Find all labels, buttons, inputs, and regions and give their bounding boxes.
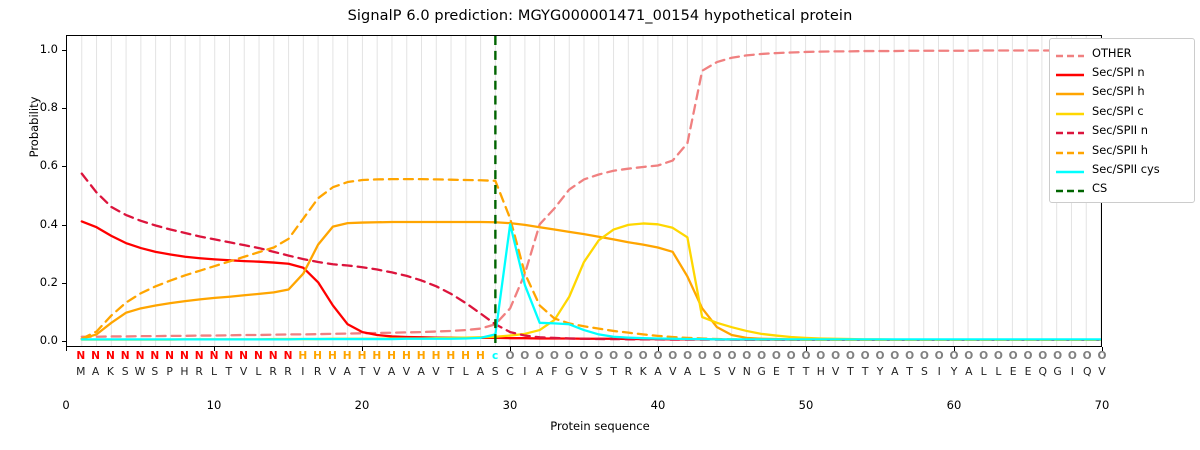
sequence-residue: V	[237, 364, 251, 379]
sequence-residue: K	[103, 364, 117, 379]
sequence-residue: M	[74, 364, 88, 379]
sequence-residue: H	[814, 364, 828, 379]
sequence-region-marker: O	[518, 349, 532, 364]
sequence-residue: S	[592, 364, 606, 379]
sequence-residue: T	[444, 364, 458, 379]
sequence-region-marker: H	[311, 349, 325, 364]
sequence-residue: A	[340, 364, 354, 379]
sequence-residue: A	[533, 364, 547, 379]
sequence-residue: T	[355, 364, 369, 379]
sequence-region-marker: N	[133, 349, 147, 364]
sequence-residue: K	[636, 364, 650, 379]
y-tick-label: 0.2	[8, 275, 58, 289]
legend-swatch-icon	[1055, 182, 1085, 194]
sequence-region-marker: H	[429, 349, 443, 364]
sequence-residue: L	[459, 364, 473, 379]
sequence-residue: Q	[1080, 364, 1094, 379]
sequence-region-marker: O	[888, 349, 902, 364]
sequence-region-marker: H	[370, 349, 384, 364]
x-tick-label: 50	[786, 398, 826, 412]
sequence-region-marker: H	[414, 349, 428, 364]
sequence-residue: G	[1051, 364, 1065, 379]
sequence-residue: V	[325, 364, 339, 379]
sequence-region-marker: O	[607, 349, 621, 364]
sequence-region-marker: O	[547, 349, 561, 364]
sequence-residue: A	[385, 364, 399, 379]
sequence-region-marker: H	[296, 349, 310, 364]
signalp-prediction-figure: SignalP 6.0 prediction: MGYG000001471_00…	[0, 0, 1200, 450]
sequence-region-marker: H	[355, 349, 369, 364]
sequence-region-marker: O	[784, 349, 798, 364]
legend-item[interactable]: OTHER	[1055, 43, 1189, 62]
sequence-region-marker: O	[740, 349, 754, 364]
sequence-region-marker: N	[74, 349, 88, 364]
sequence-region-marker: O	[991, 349, 1005, 364]
sequence-region-marker: O	[666, 349, 680, 364]
x-tick-label: 70	[1082, 398, 1122, 412]
legend-label: Sec/SPI h	[1092, 84, 1145, 98]
sequence-region-marker: O	[1006, 349, 1020, 364]
sequence-residue: R	[621, 364, 635, 379]
sequence-residue: E	[1021, 364, 1035, 379]
sequence-region-marker: O	[503, 349, 517, 364]
protein-sequence-track: NMNANKNSNWNSNPNHNRNLNTNVNLNRNRHIHRHVHAHT…	[66, 349, 1102, 385]
sequence-region-marker: O	[829, 349, 843, 364]
sequence-region-marker: H	[340, 349, 354, 364]
sequence-region-marker: O	[533, 349, 547, 364]
sequence-region-marker: O	[562, 349, 576, 364]
sequence-region-marker: H	[459, 349, 473, 364]
sequence-residue: I	[518, 364, 532, 379]
sequence-residue: L	[991, 364, 1005, 379]
sequence-residue: A	[962, 364, 976, 379]
sequence-region-marker: O	[903, 349, 917, 364]
sequence-region-marker: O	[651, 349, 665, 364]
x-tick-label: 20	[342, 398, 382, 412]
sequence-residue: I	[296, 364, 310, 379]
sequence-residue: A	[89, 364, 103, 379]
y-tick-label: 1.0	[8, 42, 58, 56]
legend-item[interactable]: Sec/SPII n	[1055, 121, 1189, 140]
sequence-residue: N	[740, 364, 754, 379]
legend-item[interactable]: Sec/SPII cys	[1055, 159, 1189, 178]
sequence-region-marker: N	[163, 349, 177, 364]
sequence-region-marker: N	[192, 349, 206, 364]
sequence-region-marker: O	[843, 349, 857, 364]
legend-label: Sec/SPI n	[1092, 65, 1145, 79]
sequence-region-marker: O	[592, 349, 606, 364]
sequence-region-marker: O	[725, 349, 739, 364]
legend-label: Sec/SPII n	[1092, 123, 1148, 137]
sequence-region-marker: N	[207, 349, 221, 364]
sequence-region-marker: O	[962, 349, 976, 364]
y-tick-label: 0.8	[8, 100, 58, 114]
sequence-region-marker: O	[681, 349, 695, 364]
sequence-residue: F	[547, 364, 561, 379]
sequence-residue: V	[370, 364, 384, 379]
sequence-region-marker: H	[325, 349, 339, 364]
y-tick-label: 0.0	[8, 333, 58, 347]
sequence-region-marker: O	[873, 349, 887, 364]
sequence-residue: H	[177, 364, 191, 379]
sequence-residue: G	[755, 364, 769, 379]
sequence-residue: T	[222, 364, 236, 379]
sequence-residue: S	[148, 364, 162, 379]
sequence-residue: T	[799, 364, 813, 379]
sequence-region-marker: O	[947, 349, 961, 364]
sequence-residue: V	[829, 364, 843, 379]
plot-area	[66, 35, 1102, 347]
sequence-residue: A	[414, 364, 428, 379]
sequence-residue: Q	[1036, 364, 1050, 379]
sequence-region-marker: O	[695, 349, 709, 364]
legend-swatch-icon	[1055, 85, 1085, 97]
x-tick-label: 10	[194, 398, 234, 412]
sequence-residue: R	[266, 364, 280, 379]
sequence-region-marker: O	[1080, 349, 1094, 364]
sequence-region-marker: H	[444, 349, 458, 364]
sequence-region-marker: H	[385, 349, 399, 364]
sequence-region-marker: N	[103, 349, 117, 364]
legend-item[interactable]: Sec/SPII h	[1055, 140, 1189, 159]
legend-item[interactable]: Sec/SPI h	[1055, 82, 1189, 101]
legend-swatch-icon	[1055, 124, 1085, 136]
legend-item[interactable]: Sec/SPI n	[1055, 62, 1189, 81]
legend-swatch-icon	[1055, 66, 1085, 78]
legend-item[interactable]: CS	[1055, 179, 1189, 198]
sequence-residue: L	[977, 364, 991, 379]
legend-label: OTHER	[1092, 46, 1132, 60]
sequence-region-marker: O	[977, 349, 991, 364]
sequence-region-marker: O	[799, 349, 813, 364]
legend-swatch-icon	[1055, 47, 1085, 59]
sequence-residue: T	[784, 364, 798, 379]
sequence-residue: A	[681, 364, 695, 379]
sequence-residue: R	[311, 364, 325, 379]
sequence-region-marker: O	[636, 349, 650, 364]
sequence-residue: E	[1006, 364, 1020, 379]
y-axis-label: Probability	[27, 47, 41, 207]
x-tick-label: 30	[490, 398, 530, 412]
sequence-residue: T	[607, 364, 621, 379]
sequence-residue: V	[399, 364, 413, 379]
sequence-region-marker: O	[1021, 349, 1035, 364]
sequence-residue: L	[695, 364, 709, 379]
sequence-residue: R	[192, 364, 206, 379]
y-tick-label: 0.6	[8, 158, 58, 172]
sequence-region-marker: N	[222, 349, 236, 364]
sequence-region-marker: O	[621, 349, 635, 364]
sequence-residue: I	[932, 364, 946, 379]
legend-swatch-icon	[1055, 163, 1085, 175]
sequence-residue: V	[577, 364, 591, 379]
sequence-residue: S	[710, 364, 724, 379]
legend-label: Sec/SPI c	[1092, 104, 1144, 118]
legend-swatch-icon	[1055, 144, 1085, 156]
sequence-residue: P	[163, 364, 177, 379]
sequence-region-marker: N	[237, 349, 251, 364]
sequence-residue: C	[503, 364, 517, 379]
x-tick-label: 40	[638, 398, 678, 412]
sequence-region-marker: H	[473, 349, 487, 364]
legend-item[interactable]: Sec/SPI c	[1055, 101, 1189, 120]
sequence-residue: W	[133, 364, 147, 379]
sequence-residue: T	[843, 364, 857, 379]
sequence-residue: L	[207, 364, 221, 379]
sequence-residue: L	[251, 364, 265, 379]
sequence-region-marker: N	[251, 349, 265, 364]
sequence-residue: T	[858, 364, 872, 379]
legend-label: Sec/SPII cys	[1092, 162, 1160, 176]
page-title: SignalP 6.0 prediction: MGYG000001471_00…	[0, 8, 1200, 24]
sequence-residue: R	[281, 364, 295, 379]
sequence-residue: A	[473, 364, 487, 379]
sequence-residue: V	[725, 364, 739, 379]
sequence-residue: T	[903, 364, 917, 379]
legend-label: CS	[1092, 181, 1107, 195]
sequence-region-marker: O	[769, 349, 783, 364]
x-axis-label: Protein sequence	[0, 419, 1200, 433]
legend-label: Sec/SPII h	[1092, 143, 1148, 157]
sequence-residue: S	[118, 364, 132, 379]
legend-swatch-icon	[1055, 105, 1085, 117]
sequence-region-marker: N	[281, 349, 295, 364]
cleavage-site-line	[67, 36, 1101, 346]
sequence-region-marker: N	[89, 349, 103, 364]
sequence-region-marker: H	[399, 349, 413, 364]
sequence-residue: V	[666, 364, 680, 379]
sequence-region-marker: O	[577, 349, 591, 364]
sequence-region-marker: O	[1065, 349, 1079, 364]
sequence-region-marker: N	[177, 349, 191, 364]
sequence-region-marker: O	[858, 349, 872, 364]
sequence-region-marker: N	[266, 349, 280, 364]
sequence-region-marker: c	[488, 349, 502, 364]
sequence-region-marker: N	[118, 349, 132, 364]
sequence-region-marker: O	[755, 349, 769, 364]
x-tick-label: 60	[934, 398, 974, 412]
sequence-residue: V	[429, 364, 443, 379]
sequence-region-marker: O	[1095, 349, 1109, 364]
sequence-region-marker: O	[917, 349, 931, 364]
sequence-residue: Y	[873, 364, 887, 379]
sequence-residue: G	[562, 364, 576, 379]
sequence-residue: A	[888, 364, 902, 379]
sequence-region-marker: O	[710, 349, 724, 364]
sequence-residue: S	[917, 364, 931, 379]
sequence-residue: I	[1065, 364, 1079, 379]
sequence-residue: Y	[947, 364, 961, 379]
sequence-region-marker: O	[932, 349, 946, 364]
sequence-region-marker: O	[1036, 349, 1050, 364]
sequence-residue: V	[1095, 364, 1109, 379]
sequence-residue: A	[651, 364, 665, 379]
y-tick-label: 0.4	[8, 217, 58, 231]
x-tick-label: 0	[46, 398, 86, 412]
sequence-region-marker: N	[148, 349, 162, 364]
sequence-region-marker: O	[814, 349, 828, 364]
legend: OTHERSec/SPI nSec/SPI hSec/SPI cSec/SPII…	[1049, 38, 1195, 203]
sequence-residue: S	[488, 364, 502, 379]
sequence-region-marker: O	[1051, 349, 1065, 364]
sequence-residue: E	[769, 364, 783, 379]
